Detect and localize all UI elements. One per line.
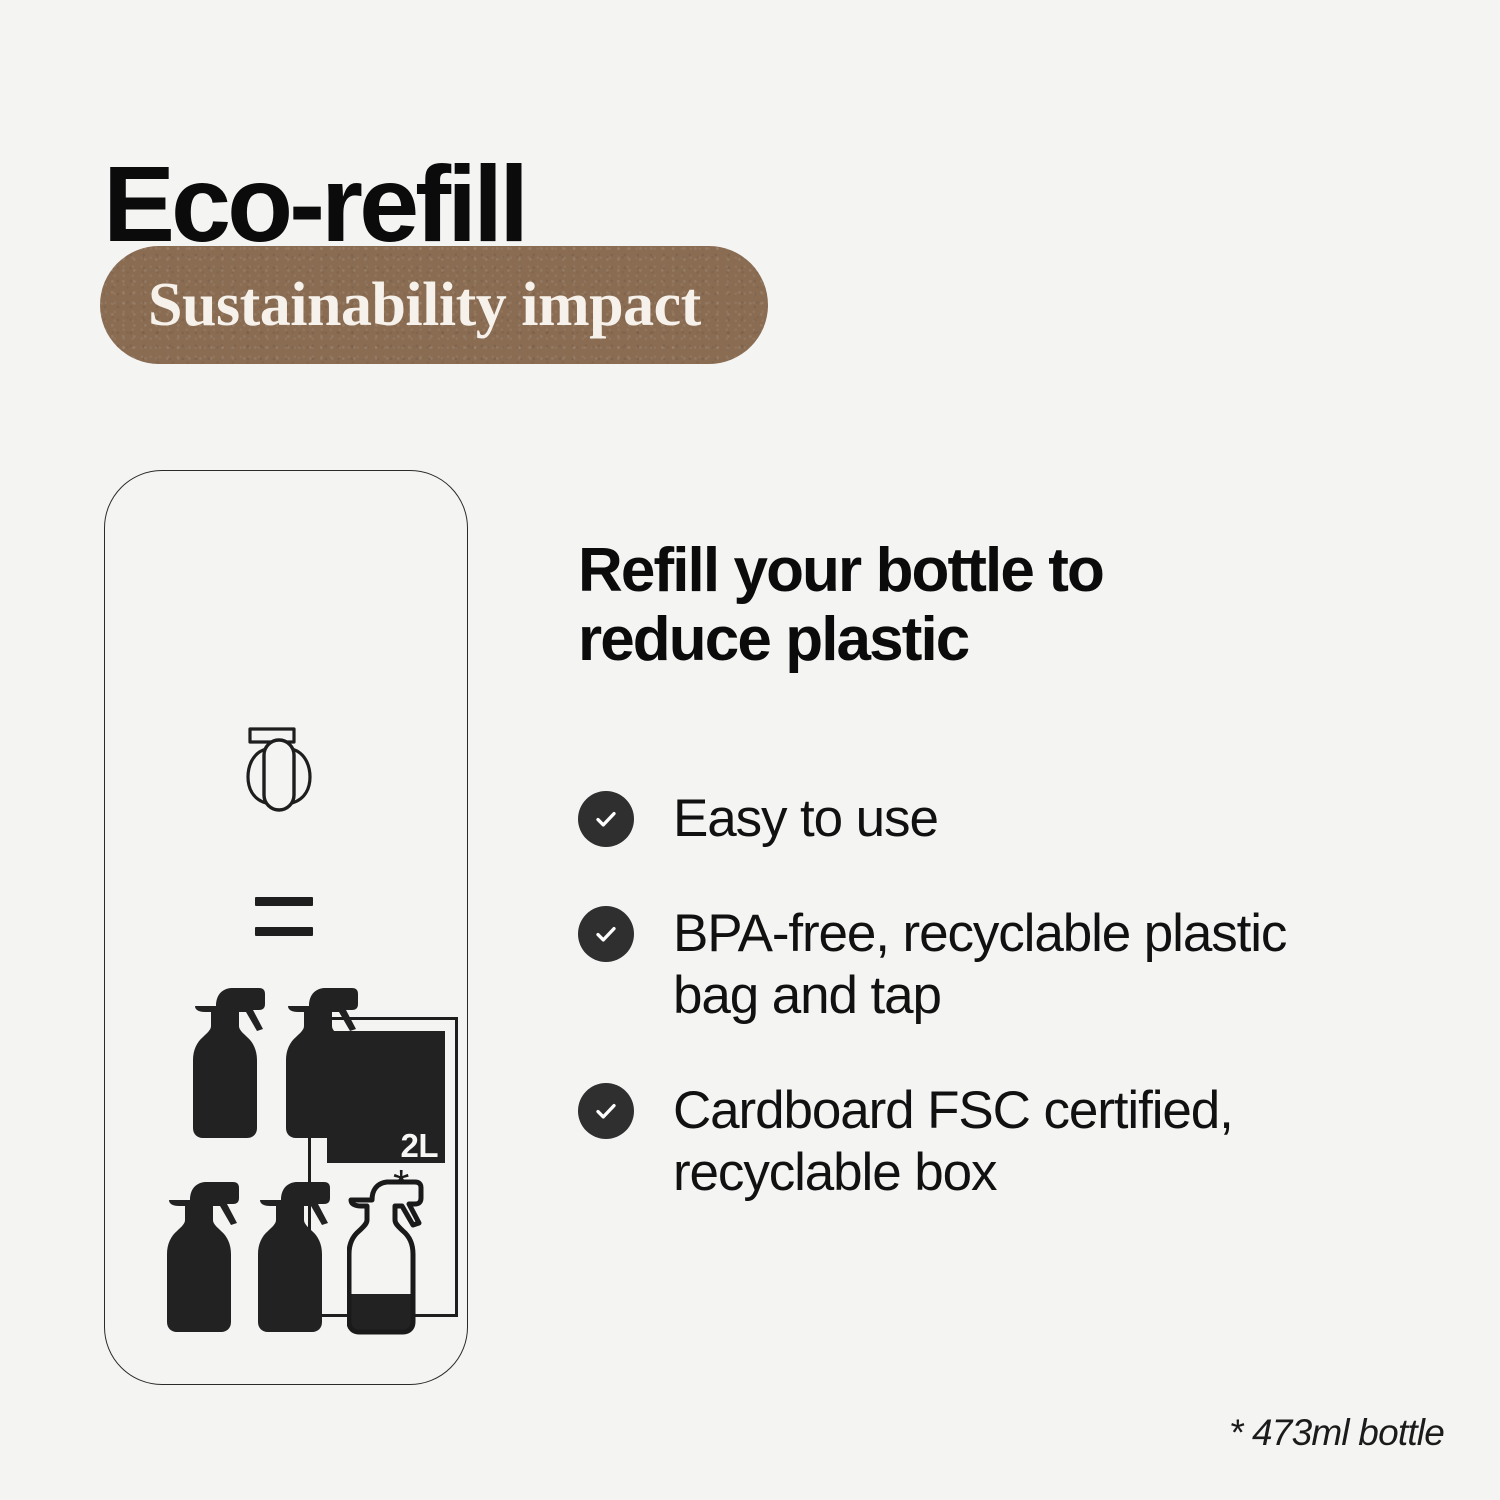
- content-column: Refill your bottle to reduce plastic Eas…: [578, 536, 1438, 675]
- feature-label: Easy to use: [673, 788, 938, 851]
- check-circle-icon: [578, 1083, 634, 1139]
- illustration-panel: 2L: [104, 470, 468, 1385]
- spray-bottle-icon: [284, 984, 362, 1142]
- content-heading: Refill your bottle to reduce plastic: [578, 536, 1308, 675]
- bottle-row-three: [165, 1178, 425, 1336]
- feature-item: Cardboard FSC certified, recyclable box: [578, 1080, 1438, 1205]
- tap-icon: [242, 723, 316, 815]
- spray-bottle-outline-icon: [347, 1178, 425, 1336]
- page-title: Eco-refill: [103, 150, 525, 258]
- equals-operator-icon: [255, 897, 313, 937]
- spray-bottle-icon: [165, 1178, 243, 1336]
- spray-bottle-icon: [256, 1178, 334, 1336]
- feature-label: Cardboard FSC certified, recyclable box: [673, 1080, 1438, 1205]
- footnote: * 473ml bottle: [1229, 1412, 1444, 1454]
- asterisk-marker: *: [393, 1164, 409, 1206]
- sustainability-impact-badge: Sustainability impact: [100, 246, 768, 364]
- badge-label: Sustainability impact: [148, 274, 701, 336]
- eco-refill-infographic: Eco-refill Sustainability impact 2L: [0, 0, 1500, 1500]
- carton-volume-label: 2L: [400, 1129, 438, 1162]
- bottle-row-two: [191, 984, 362, 1142]
- feature-item: BPA-free, recyclable plastic bag and tap: [578, 903, 1438, 1028]
- spray-bottle-icon: [191, 984, 269, 1142]
- feature-list: Easy to use BPA-free, recyclable plastic…: [578, 788, 1438, 1205]
- check-circle-icon: [578, 791, 634, 847]
- feature-item: Easy to use: [578, 788, 1438, 851]
- feature-label: BPA-free, recyclable plastic bag and tap: [673, 903, 1313, 1028]
- check-circle-icon: [578, 906, 634, 962]
